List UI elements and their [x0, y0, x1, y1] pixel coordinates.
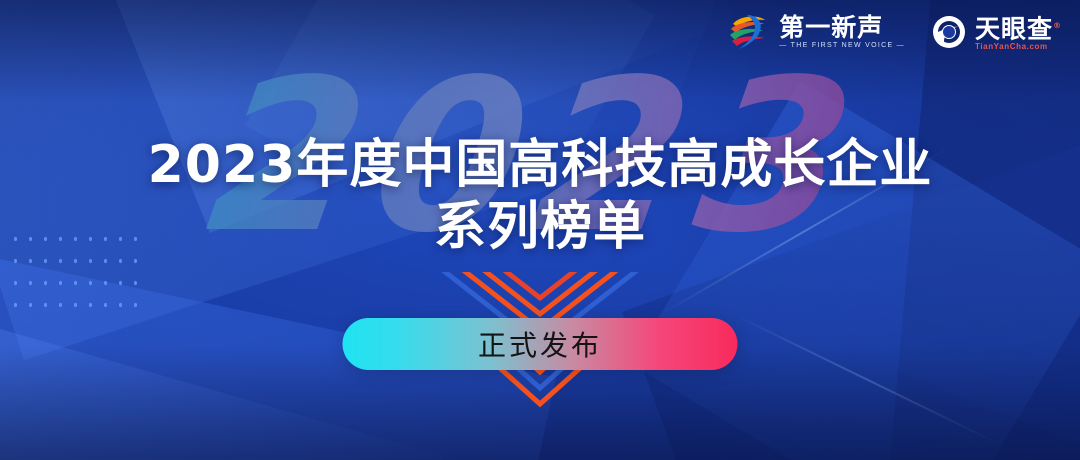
- diyixinsheng-logo-icon: [727, 12, 771, 52]
- title-line-2: 系列榜单: [0, 196, 1080, 258]
- title-line-1: 2023年度中国高科技高成长企业: [0, 134, 1080, 196]
- tianyancha-logo-icon: [931, 14, 967, 50]
- logo-diyixinsheng-subtitle: — THE FIRST NEW VOICE —: [779, 41, 905, 51]
- logo-tianyancha-subtitle: TianYanCha.com: [975, 42, 1062, 52]
- logo-diyixinsheng-name: 第一新声: [779, 14, 905, 41]
- logo-diyixinsheng[interactable]: 第一新声 — THE FIRST NEW VOICE —: [727, 12, 905, 52]
- logo-tianyancha[interactable]: 天眼查® TianYanCha.com: [931, 12, 1062, 52]
- logo-tianyancha-name-text: 天眼查: [975, 14, 1053, 43]
- logo-bar: 第一新声 — THE FIRST NEW VOICE — 天眼查® TianYa…: [727, 12, 1062, 52]
- logo-tianyancha-name: 天眼查®: [975, 12, 1062, 42]
- banner-image: 2023 2023年度中国高科技高成长企业 系列榜单 正式发布: [0, 0, 1080, 460]
- trademark-icon: ®: [1053, 21, 1062, 30]
- banner-title: 2023年度中国高科技高成长企业 系列榜单: [0, 134, 1080, 258]
- release-status-pill[interactable]: 正式发布: [343, 318, 738, 370]
- release-status-label: 正式发布: [478, 324, 602, 364]
